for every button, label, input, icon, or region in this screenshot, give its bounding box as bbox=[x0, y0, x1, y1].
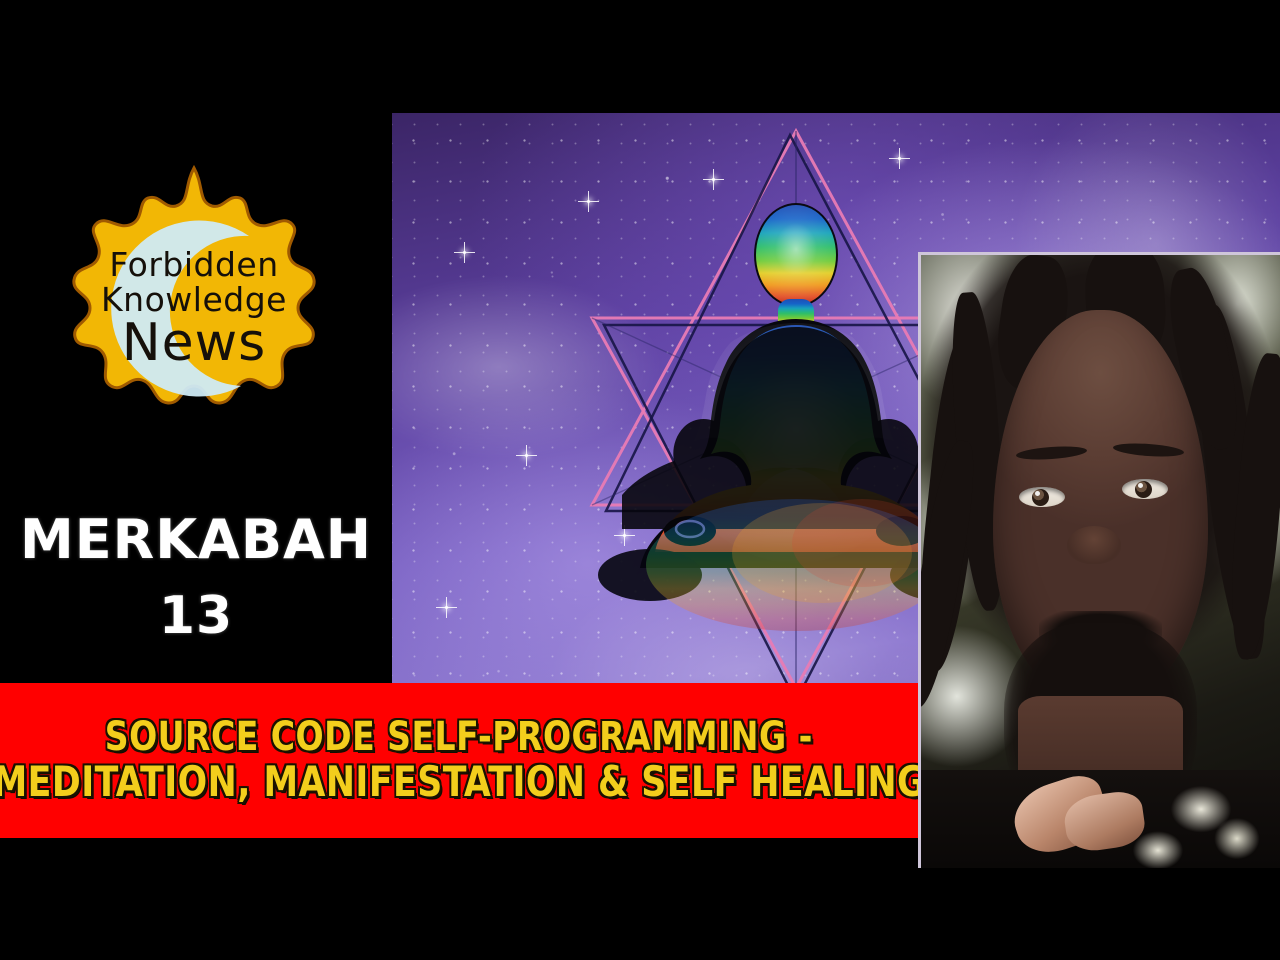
portrait-brow-left bbox=[1016, 445, 1088, 462]
bottom-letterbox-bar bbox=[0, 868, 1280, 960]
star-glint bbox=[712, 178, 715, 181]
thumbnail-canvas: Forbidden Knowledge News MERKABAH 13 SOU… bbox=[0, 0, 1280, 960]
logo-wordmark: Forbidden Knowledge News bbox=[44, 158, 344, 458]
star-glint bbox=[792, 309, 795, 312]
star-glint bbox=[623, 534, 626, 537]
portrait-brow-right bbox=[1113, 441, 1185, 458]
title-banner: SOURCE CODE SELF-PROGRAMMING - MEDITATIO… bbox=[0, 683, 918, 838]
star-glint bbox=[525, 454, 528, 457]
portrait-nose bbox=[1067, 526, 1121, 564]
top-letterbox-bar bbox=[0, 0, 1280, 113]
series-episode-number: 13 bbox=[0, 586, 392, 646]
banner-line-2: MEDITATION, MANIFESTATION & SELF HEALING bbox=[0, 759, 926, 804]
banner-line-1: SOURCE CODE SELF-PROGRAMMING - bbox=[105, 716, 813, 759]
portrait-eye-right bbox=[1122, 479, 1168, 499]
series-title: MERKABAH bbox=[0, 508, 392, 571]
host-portrait-inset bbox=[918, 252, 1280, 868]
portrait-eye-left bbox=[1019, 487, 1065, 507]
logo-word-news: News bbox=[122, 317, 267, 369]
star-glint bbox=[898, 157, 901, 160]
logo-word-knowledge: Knowledge bbox=[101, 283, 287, 316]
star-glint bbox=[463, 251, 466, 254]
sun-moon-logo[interactable]: Forbidden Knowledge News bbox=[44, 158, 344, 458]
logo-word-forbidden: Forbidden bbox=[109, 248, 278, 281]
